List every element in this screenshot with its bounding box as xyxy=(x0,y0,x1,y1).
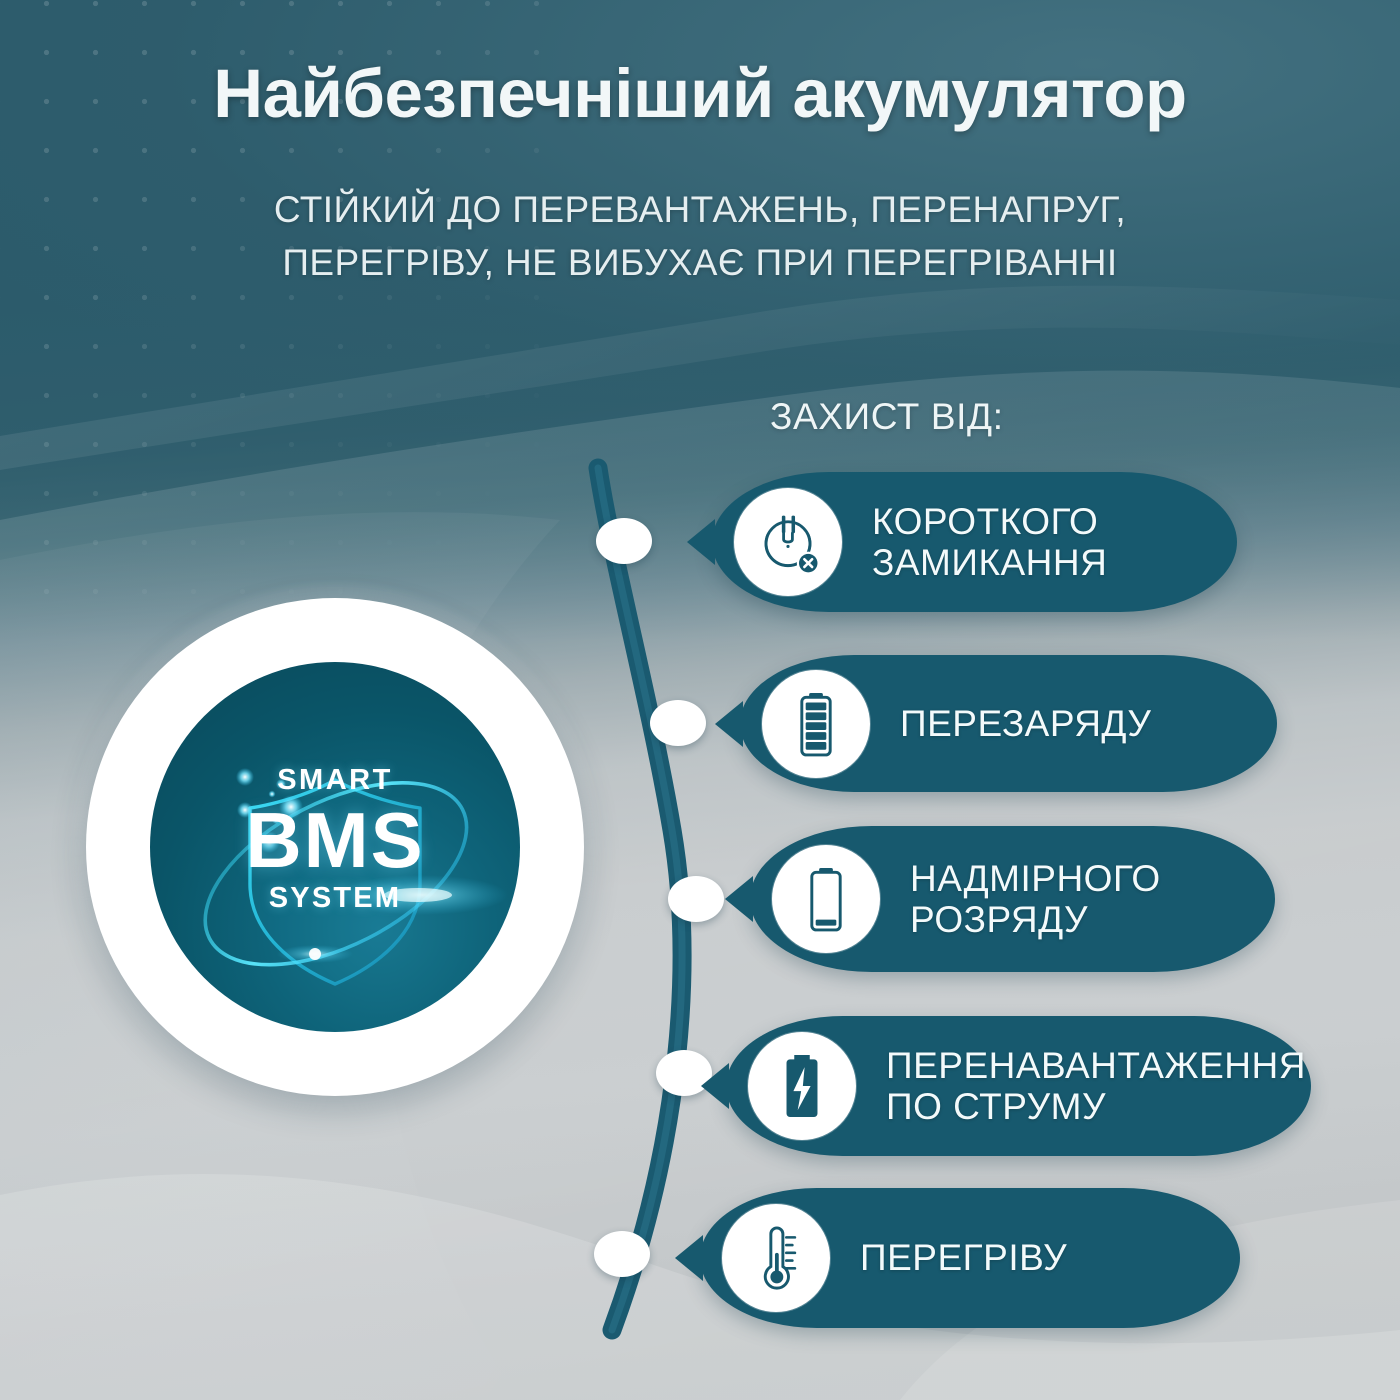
shield-icon xyxy=(150,662,520,1032)
protection-item-label: ПЕРЕГРІВУ xyxy=(860,1237,1067,1278)
protection-item-label: НАДМІРНОГО РОЗРЯДУ xyxy=(910,858,1161,941)
page-subtitle: СТІЙКИЙ ДО ПЕРЕВАНТАЖЕНЬ, ПЕРЕНАПРУГ, ПЕ… xyxy=(200,184,1200,289)
protection-item-overcharge[interactable]: ПЕРЕЗАРЯДУ xyxy=(740,655,1277,792)
spine-node-3 xyxy=(668,876,724,922)
pill-tail xyxy=(715,701,743,747)
pill-tail xyxy=(675,1235,703,1281)
section-heading: ЗАХИСТ ВІД: xyxy=(770,396,1004,438)
spine-node-5 xyxy=(594,1231,650,1277)
infographic-poster: Найбезпечніший акумулятор СТІЙКИЙ ДО ПЕР… xyxy=(0,0,1400,1400)
battery-full-icon xyxy=(762,670,870,778)
protection-item-overheat[interactable]: ПЕРЕГРІВУ xyxy=(700,1188,1240,1328)
spine-node-1 xyxy=(596,518,652,564)
page-title: Найбезпечніший акумулятор xyxy=(0,58,1400,130)
pill-tail xyxy=(701,1063,729,1109)
protection-item-label: КОРОТКОГО ЗАМИКАННЯ xyxy=(872,501,1107,584)
battery-empty-icon xyxy=(772,845,880,953)
protection-item-label: ПЕРЕНАВАНТАЖЕННЯ ПО СТРУМУ xyxy=(886,1045,1306,1128)
poster-header: Найбезпечніший акумулятор СТІЙКИЙ ДО ПЕР… xyxy=(0,58,1400,290)
pill-tail xyxy=(725,876,753,922)
battery-bolt-icon xyxy=(748,1032,856,1140)
pill-tail xyxy=(687,519,715,565)
logo-teal-disc: SMART BMS SYSTEM xyxy=(150,662,520,1032)
smart-bms-logo: SMART BMS SYSTEM xyxy=(70,582,600,1112)
protection-item-short-circuit[interactable]: КОРОТКОГО ЗАМИКАННЯ xyxy=(712,472,1237,612)
protection-item-label: ПЕРЕЗАРЯДУ xyxy=(900,703,1151,744)
short-circuit-plug-icon xyxy=(734,488,842,596)
protection-item-overcurrent[interactable]: ПЕРЕНАВАНТАЖЕННЯ ПО СТРУМУ xyxy=(726,1016,1311,1156)
spine-node-2 xyxy=(650,700,706,746)
thermometer-icon xyxy=(722,1204,830,1312)
protection-item-over-discharge[interactable]: НАДМІРНОГО РОЗРЯДУ xyxy=(750,826,1275,972)
